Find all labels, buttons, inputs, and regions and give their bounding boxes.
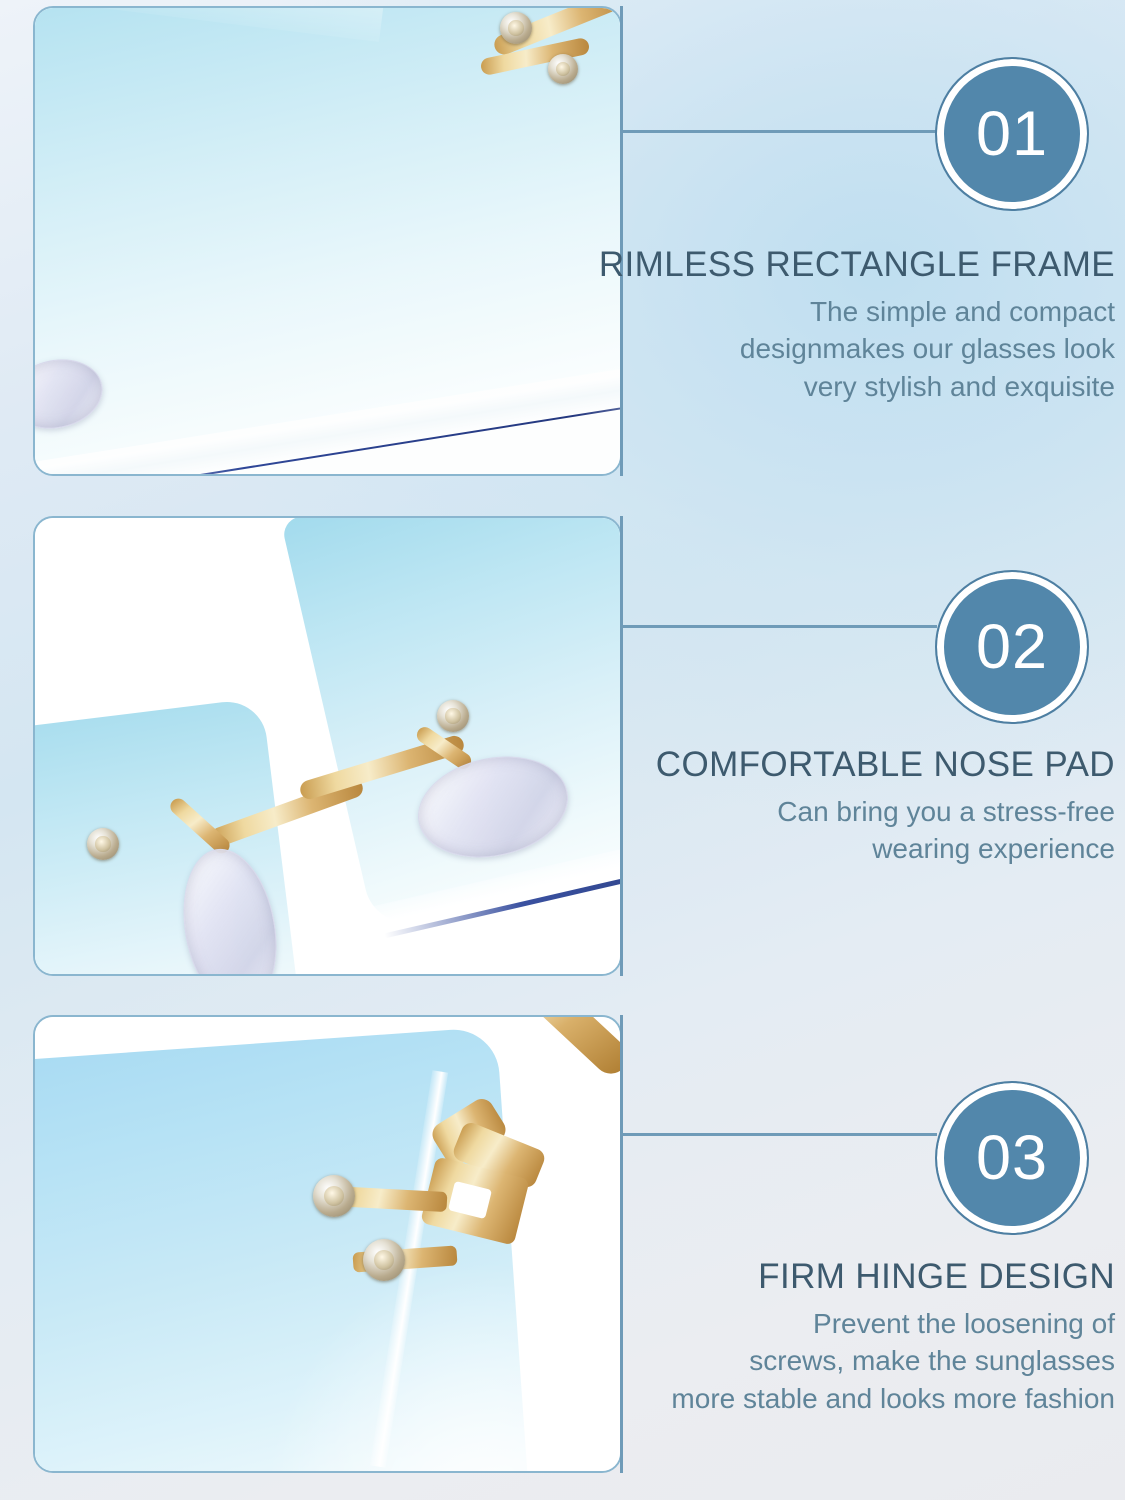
- photo-hinge: [35, 1017, 620, 1471]
- feature-text-03: FIRM HINGE DESIGN Prevent the loosening …: [595, 1257, 1115, 1417]
- photo-nose-pad: [35, 518, 620, 974]
- screw: [437, 700, 469, 732]
- feature-description-03: Prevent the loosening of screws, make th…: [595, 1305, 1115, 1417]
- feature-title-03: FIRM HINGE DESIGN: [595, 1257, 1115, 1297]
- feature-description-line: Can bring you a stress-free: [595, 793, 1115, 830]
- feature-description-line: Prevent the loosening of: [595, 1305, 1115, 1342]
- connector-line-02: [620, 625, 937, 628]
- feature-number-badge-02: 02: [935, 570, 1089, 724]
- feature-block-03: 03 FIRM HINGE DESIGN Prevent the looseni…: [0, 1000, 1125, 1500]
- feature-description-01: The simple and compact designmakes our g…: [595, 293, 1115, 405]
- feature-description-line: wearing experience: [595, 830, 1115, 867]
- feature-title-02: COMFORTABLE NOSE PAD: [595, 745, 1115, 785]
- feature-number-03: 03: [976, 1127, 1048, 1190]
- product-feature-infographic: 01 RIMLESS RECTANGLE FRAME The simple an…: [0, 0, 1125, 1500]
- screw: [500, 12, 532, 44]
- feature-image-panel-03: [33, 1015, 622, 1473]
- feature-number-02: 02: [976, 616, 1048, 679]
- connector-stub-01: [620, 6, 623, 476]
- feature-description-line: designmakes our glasses look: [595, 330, 1115, 367]
- screw: [548, 54, 578, 84]
- feature-number-badge-01: 01: [935, 57, 1089, 211]
- feature-title-01: RIMLESS RECTANGLE FRAME: [595, 245, 1115, 285]
- connector-line-01: [620, 130, 937, 133]
- feature-description-line: screws, make the sunglasses: [595, 1342, 1115, 1379]
- feature-number-badge-03: 03: [935, 1081, 1089, 1235]
- photo-rimless-lens: [35, 8, 620, 474]
- feature-description-line: very stylish and exquisite: [595, 368, 1115, 405]
- screw: [363, 1239, 405, 1281]
- feature-image-panel-01: [33, 6, 622, 476]
- feature-text-01: RIMLESS RECTANGLE FRAME The simple and c…: [595, 245, 1115, 405]
- feature-block-01: 01 RIMLESS RECTANGLE FRAME The simple an…: [0, 0, 1125, 500]
- feature-block-02: 02 COMFORTABLE NOSE PAD Can bring you a …: [0, 500, 1125, 1000]
- feature-description-02: Can bring you a stress-free wearing expe…: [595, 793, 1115, 867]
- screw: [87, 828, 119, 860]
- feature-image-panel-02: [33, 516, 622, 976]
- feature-text-02: COMFORTABLE NOSE PAD Can bring you a str…: [595, 745, 1115, 868]
- connector-line-03: [620, 1133, 937, 1136]
- screw: [313, 1175, 355, 1217]
- feature-description-line: The simple and compact: [595, 293, 1115, 330]
- feature-number-01: 01: [976, 103, 1048, 166]
- feature-description-line: more stable and looks more fashion: [595, 1380, 1115, 1417]
